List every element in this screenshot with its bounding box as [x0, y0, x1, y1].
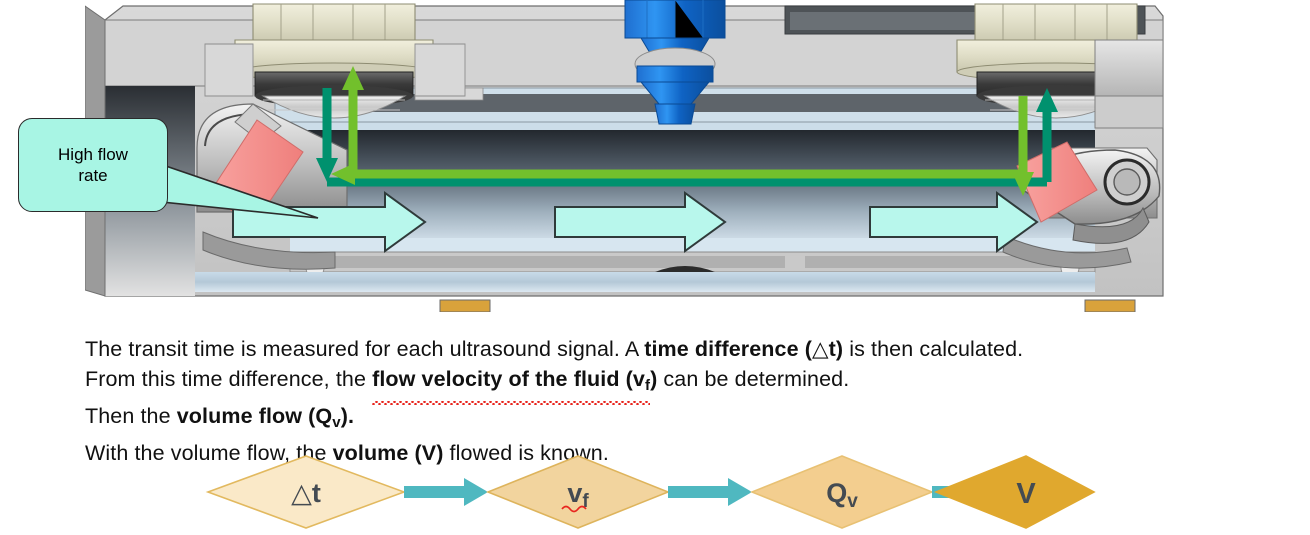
chain-node-q-v: Qv — [752, 456, 932, 528]
line2-part-a: From this time difference, the — [85, 367, 372, 391]
callout-tail — [160, 152, 320, 224]
chain-arrow-2 — [668, 478, 752, 506]
line2-bold-flow-velocity: flow velocity of the fluid (vf) — [372, 367, 657, 391]
svg-text:V: V — [1016, 478, 1036, 510]
chain-node-v-f: vf — [488, 456, 668, 528]
right-flange — [1095, 40, 1163, 128]
chain-node-delta-t: △t — [208, 456, 404, 528]
explanation-line-2: From this time difference, the flow velo… — [85, 364, 1245, 401]
line1-bold-time-difference: time difference (△t) — [644, 337, 843, 361]
chain-node-v-total: V — [936, 456, 1094, 528]
delta-glyph: △ — [812, 337, 829, 361]
line1-part-a: The transit time is measured for each ul… — [85, 337, 644, 361]
chain-arrow-1 — [404, 478, 488, 506]
callout-line-2: rate — [78, 166, 107, 185]
quantity-derivation-chain: △t vf Qv V — [196, 452, 1096, 532]
callout-line-1: High flow — [58, 145, 128, 164]
line3-part-a: Then the — [85, 404, 177, 428]
explanation-line-3: Then the volume flow (Qv). — [85, 401, 1245, 438]
vf-symbol: flow velocity of the fluid (vf — [372, 364, 650, 401]
explanation-line-1: The transit time is measured for each ul… — [85, 334, 1245, 364]
line3-bold-volume-flow: volume flow (Qv). — [177, 404, 354, 428]
callout-high-flow-rate: High flow rate — [18, 118, 168, 212]
line1-part-c: is then calculated. — [843, 337, 1023, 361]
terminal-contacts — [440, 300, 1135, 312]
line2-part-c: can be determined. — [657, 367, 849, 391]
svg-text:△t: △t — [291, 478, 321, 508]
explanation-paragraph: The transit time is measured for each ul… — [85, 334, 1245, 468]
callout-label: High flow rate — [58, 144, 128, 187]
